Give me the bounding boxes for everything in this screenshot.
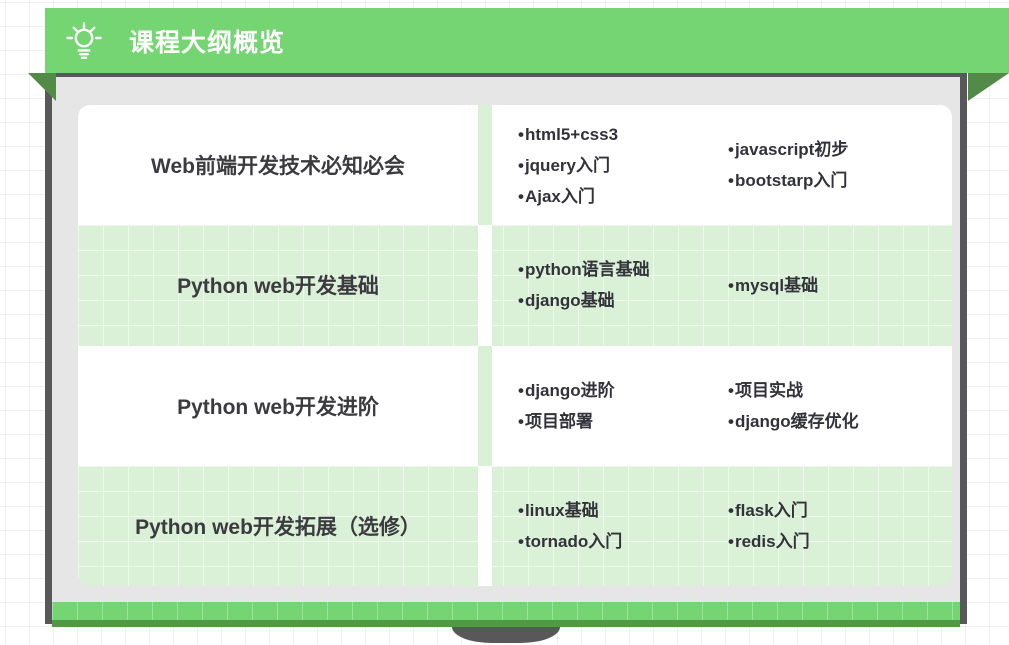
item-column-left: •html5+css3 •jquery入门 •Ajax入门 [518,119,728,212]
list-item: •项目实战 [728,375,952,406]
bullet-icon: • [728,413,734,430]
item-column-left: •django进阶 •项目部署 [518,375,728,437]
bullet-icon: • [728,141,734,158]
bullet-icon: • [518,292,524,309]
item-column-left: •linux基础 •tornado入门 [518,495,728,557]
list-item-label: 项目部署 [525,412,593,431]
list-item-label: bootstarp入门 [735,171,847,190]
bullet-icon: • [518,126,524,143]
table-row: Python web开发进阶 •django进阶 •项目部署 •项目实战 •dj… [78,346,952,466]
table-row: Web前端开发技术必知必会 •html5+css3 •jquery入门 •Aja… [78,105,952,225]
column-divider [478,225,492,345]
list-item-label: tornado入门 [525,532,622,551]
row-title: Python web开发拓展（选修） [78,466,478,586]
item-column-right: •javascript初步 •bootstarp入门 [728,134,952,196]
list-item: •项目部署 [518,406,728,437]
list-item-label: redis入门 [735,532,810,551]
list-item-label: html5+css3 [525,125,618,144]
bottom-green-bar-shadow [52,620,960,627]
table-row: Python web开发基础 •python语言基础 •django基础 •my… [78,225,952,345]
header-ribbon: 课程大纲概览 [45,8,1009,73]
bullet-icon: • [728,533,734,550]
list-item-label: linux基础 [525,501,599,520]
course-outline-table: Web前端开发技术必知必会 •html5+css3 •jquery入门 •Aja… [78,105,952,586]
bullet-icon: • [518,533,524,550]
list-item: •redis入门 [728,526,952,557]
column-divider [478,346,492,466]
list-item-label: flask入门 [735,501,808,520]
lightbulb-icon [61,18,107,64]
item-column-left: •python语言基础 •django基础 [518,254,728,316]
list-item: •bootstarp入门 [728,165,952,196]
list-item-label: python语言基础 [525,260,650,279]
list-item-label: javascript初步 [735,140,848,159]
list-item-label: jquery入门 [525,156,610,175]
bullet-icon: • [518,382,524,399]
row-title: Python web开发基础 [78,225,478,345]
bullet-icon: • [728,382,734,399]
list-item: •python语言基础 [518,254,728,285]
bullet-icon: • [518,502,524,519]
list-item: •django基础 [518,285,728,316]
list-item: •Ajax入门 [518,181,728,212]
list-item: •html5+css3 [518,119,728,150]
list-item: •django进阶 [518,375,728,406]
item-column-right: •mysql基础 [728,270,952,301]
list-item-label: django缓存优化 [735,412,859,431]
bullet-icon: • [728,502,734,519]
list-item-label: Ajax入门 [525,187,595,206]
bottom-green-bar [52,602,960,620]
bullet-icon: • [518,413,524,430]
list-item: •jquery入门 [518,150,728,181]
bullet-icon: • [518,157,524,174]
item-column-right: •项目实战 •django缓存优化 [728,375,952,437]
column-divider [478,466,492,586]
list-item: •tornado入门 [518,526,728,557]
column-divider [478,105,492,225]
bullet-icon: • [518,188,524,205]
bullet-icon: • [728,277,734,294]
list-item-label: django进阶 [525,381,615,400]
list-item: •linux基础 [518,495,728,526]
list-item: •javascript初步 [728,134,952,165]
item-column-right: •flask入门 •redis入门 [728,495,952,557]
list-item: •mysql基础 [728,270,952,301]
table-row: Python web开发拓展（选修） •linux基础 •tornado入门 •… [78,466,952,586]
page-title: 课程大纲概览 [129,23,285,59]
row-items: •django进阶 •项目部署 •项目实战 •django缓存优化 [492,346,952,466]
list-item-label: django基础 [525,291,615,310]
row-items: •linux基础 •tornado入门 •flask入门 •redis入门 [492,466,952,586]
list-item: •django缓存优化 [728,406,952,437]
row-items: •python语言基础 •django基础 •mysql基础 [492,225,952,345]
row-title: Python web开发进阶 [78,346,478,466]
bullet-icon: • [728,172,734,189]
list-item: •flask入门 [728,495,952,526]
ribbon-fold-right [968,73,1009,101]
row-title: Web前端开发技术必知必会 [78,105,478,225]
row-items: •html5+css3 •jquery入门 •Ajax入门 •javascrip… [492,105,952,225]
list-item-label: mysql基础 [735,276,818,295]
ribbon-fold-left [28,73,56,101]
bullet-icon: • [518,261,524,278]
list-item-label: 项目实战 [735,381,803,400]
